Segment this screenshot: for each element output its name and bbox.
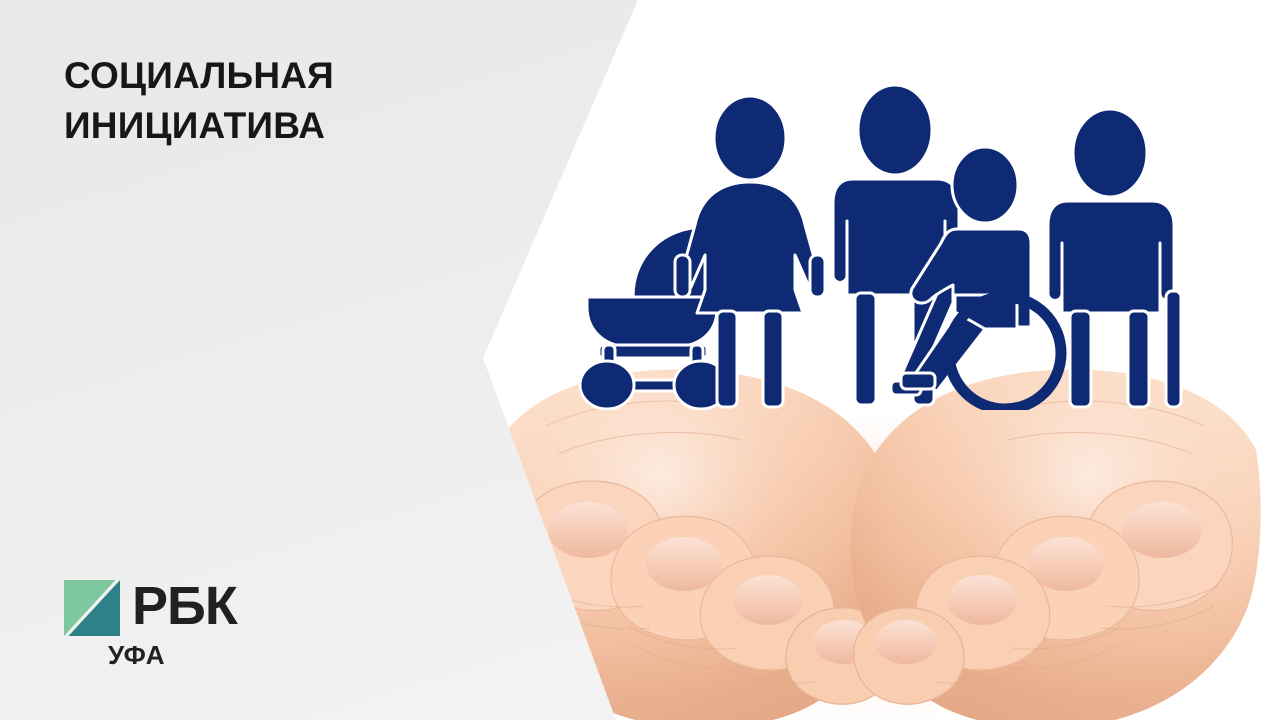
elderly-person-with-cane-icon bbox=[1048, 109, 1181, 407]
rbc-ufa-logo[interactable]: РБК УФА bbox=[64, 580, 284, 690]
page-title: СОЦИАЛЬНАЯ ИНИЦИАТИВА bbox=[64, 51, 444, 151]
rbc-diagonal-square-icon bbox=[64, 580, 120, 636]
logo-wordmark: РБК bbox=[132, 580, 237, 632]
logo-row: РБК bbox=[64, 580, 284, 636]
title-card: СОЦИАЛЬНАЯ ИНИЦИАТИВА РБК УФА bbox=[0, 0, 1280, 720]
people-pictogram-group bbox=[565, 85, 1190, 410]
logo-sublabel: УФА bbox=[108, 640, 284, 671]
